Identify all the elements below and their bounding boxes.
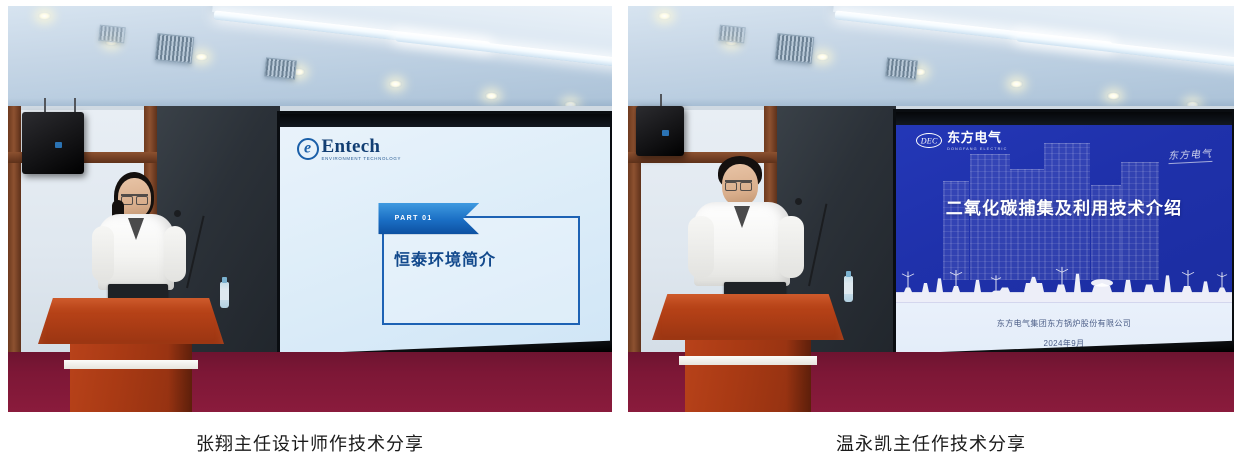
presenter-arm xyxy=(778,216,804,278)
wall-speaker-icon xyxy=(636,106,684,156)
downlight-icon xyxy=(485,92,498,100)
wall-speaker-icon xyxy=(22,112,84,174)
slide-title-left: 恒泰环境简介 xyxy=(280,246,610,270)
podium-body xyxy=(70,344,193,412)
slide-entech: Entech ENVIRONMENT TECHNOLOGY PART 01 恒泰… xyxy=(280,114,610,368)
dec-name-cn: 东方电气 xyxy=(947,131,1007,145)
dec-logo: 东方电气 DONGFANG ELECTRIC xyxy=(916,131,1007,151)
dec-mark-icon xyxy=(916,133,942,148)
ac-vent-icon xyxy=(775,33,815,64)
downlight-icon xyxy=(1010,80,1023,88)
caption-left: 张翔主任设计师作技术分享 xyxy=(8,430,612,456)
water-bottle-icon xyxy=(844,276,853,302)
glasses-icon xyxy=(725,180,752,188)
slide-upper: 东方电气 DONGFANG ELECTRIC 东方电气 二氧化碳捕集及利用技术介… xyxy=(896,112,1232,303)
podium-left xyxy=(38,298,224,412)
ac-vent-icon xyxy=(155,33,195,64)
figure-row: Entech ENVIRONMENT TECHNOLOGY PART 01 恒泰… xyxy=(0,0,1241,474)
ac-vent-icon xyxy=(264,57,297,79)
part-box: PART 01 xyxy=(382,216,580,325)
downlight-icon xyxy=(195,53,208,61)
wood-trim xyxy=(8,106,21,374)
photo-right: 东方电气 DONGFANG ELECTRIC 东方电气 二氧化碳捕集及利用技术介… xyxy=(628,6,1234,412)
ac-vent-icon xyxy=(718,25,746,44)
document-page: Entech ENVIRONMENT TECHNOLOGY PART 01 恒泰… xyxy=(0,0,1241,474)
podium-stripe xyxy=(679,356,817,365)
photo-left: Entech ENVIRONMENT TECHNOLOGY PART 01 恒泰… xyxy=(8,6,612,412)
part-ribbon-label: PART 01 xyxy=(395,215,433,222)
presenter-arm xyxy=(92,226,114,282)
downlight-icon xyxy=(38,12,51,20)
presenter-arm xyxy=(164,226,186,282)
entech-name: Entech xyxy=(322,137,402,156)
ac-vent-icon xyxy=(98,25,126,44)
podium-top xyxy=(652,294,844,340)
entech-mark-icon xyxy=(297,138,319,160)
screen-bezel xyxy=(280,114,610,127)
slide-dec: 东方电气 DONGFANG ELECTRIC 东方电气 二氧化碳捕集及利用技术介… xyxy=(896,112,1232,370)
downlight-icon xyxy=(658,12,671,20)
microphone-icon xyxy=(174,210,181,217)
podium-shading xyxy=(168,344,193,412)
figure-right: 东方电气 DONGFANG ELECTRIC 东方电气 二氧化碳捕集及利用技术介… xyxy=(628,6,1234,412)
ac-vent-icon xyxy=(885,57,918,79)
podium-body xyxy=(685,340,812,412)
downlight-icon xyxy=(1107,92,1120,100)
collar xyxy=(128,218,144,240)
podium-stripe xyxy=(64,360,198,369)
ceiling xyxy=(8,6,612,114)
presenter-arm xyxy=(688,216,714,278)
entech-logo: Entech ENVIRONMENT TECHNOLOGY xyxy=(297,137,402,161)
microphone-icon xyxy=(795,198,802,205)
glasses-icon xyxy=(121,194,148,202)
figure-left: Entech ENVIRONMENT TECHNOLOGY PART 01 恒泰… xyxy=(8,6,612,412)
dec-name-en: DONGFANG ELECTRIC xyxy=(947,147,1007,151)
podium-top xyxy=(38,298,224,344)
script-watermark: 东方电气 xyxy=(1167,145,1212,162)
bottle-label xyxy=(844,285,853,294)
entech-wordmark: Entech ENVIRONMENT TECHNOLOGY xyxy=(322,137,402,161)
entech-subtitle: ENVIRONMENT TECHNOLOGY xyxy=(322,157,402,162)
caption-right: 温永凯主任作技术分享 xyxy=(628,430,1234,456)
slide-title-right: 二氧化碳捕集及利用技术介绍 xyxy=(896,194,1232,219)
downlight-icon xyxy=(389,80,402,88)
podium-shading xyxy=(786,340,811,412)
podium-right xyxy=(652,294,844,412)
slide-organization: 东方电气集团东方锅炉股份有限公司 xyxy=(896,318,1232,329)
ceiling xyxy=(628,6,1234,114)
screen-bezel xyxy=(896,112,1232,125)
dec-wordmark: 东方电气 DONGFANG ELECTRIC xyxy=(947,131,1007,151)
projection-screen-right: 东方电气 DONGFANG ELECTRIC 东方电气 二氧化碳捕集及利用技术介… xyxy=(896,112,1232,370)
city-skyline-icon xyxy=(896,257,1232,303)
downlight-icon xyxy=(816,53,829,61)
projection-screen-left: Entech ENVIRONMENT TECHNOLOGY PART 01 恒泰… xyxy=(280,114,610,368)
collar xyxy=(734,206,750,228)
part-ribbon: PART 01 xyxy=(378,203,479,235)
